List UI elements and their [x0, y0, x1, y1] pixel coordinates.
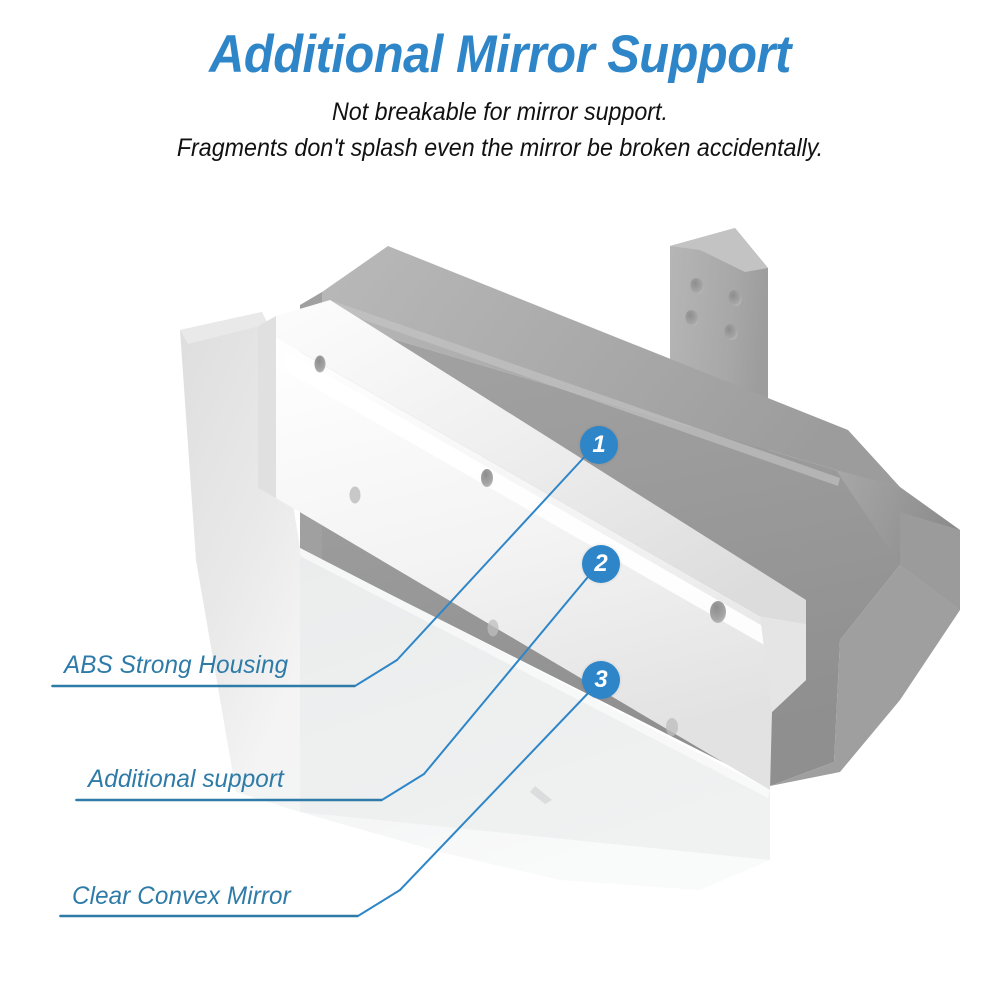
callout-label-additional-support: Additional support	[88, 765, 290, 794]
callout-badge-1: 1	[580, 426, 618, 464]
callout-badge-2: 2	[582, 545, 620, 583]
callout-label-text-1: ABS Strong Housing	[64, 651, 288, 680]
callout-label-text-3: Clear Convex Mirror	[72, 882, 291, 911]
callout-label-clear-convex-mirror: Clear Convex Mirror	[72, 882, 298, 911]
callout-label-text-2: Additional support	[88, 765, 284, 794]
callout-badge-3: 3	[582, 661, 620, 699]
product-exploded-view-illustration	[0, 0, 1000, 1000]
infographic-page: Additional Mirror Support Not breakable …	[0, 0, 1000, 1000]
callout-label-abs-strong-housing: ABS Strong Housing	[64, 651, 295, 680]
